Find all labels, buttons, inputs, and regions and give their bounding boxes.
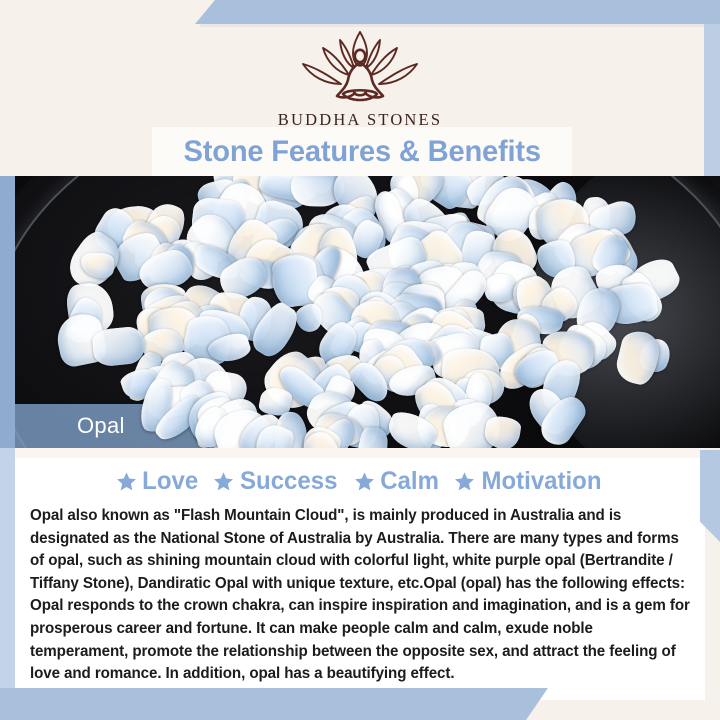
benefits-row: Love Success Calm Motivation [15, 467, 705, 496]
benefit-label: Success [240, 467, 337, 496]
benefit-item-motivation: Motivation [454, 467, 604, 496]
content-panel-topline [15, 448, 705, 458]
top-accent-band [195, 0, 720, 24]
benefit-label: Motivation [481, 467, 601, 496]
hero-left-strip [0, 176, 15, 466]
body-left-strip [0, 448, 15, 700]
stone-description: Opal also known as "Flash Mountain Cloud… [30, 505, 690, 686]
infographic-page: BUDDHA STONES Stone Features & Benefits … [0, 0, 720, 720]
benefit-label: Love [142, 467, 198, 496]
star-icon [454, 471, 475, 492]
opal-stone [483, 415, 522, 448]
stone-name-label: Opal [77, 413, 125, 439]
benefit-item-calm: Calm [354, 467, 440, 496]
benefit-item-love: Love [116, 467, 199, 496]
brand-logo: BUDDHA STONES [0, 26, 720, 130]
lotus-meditation-figure-icon [285, 26, 435, 108]
page-title: Stone Features & Benefits [183, 135, 540, 169]
star-icon [116, 471, 137, 492]
opal-stone [613, 328, 663, 388]
bottom-accent-band [0, 688, 548, 720]
star-icon [354, 471, 375, 492]
benefit-item-success: Success [213, 467, 339, 496]
star-icon [213, 471, 234, 492]
page-title-panel: Stone Features & Benefits [152, 127, 572, 176]
benefit-label: Calm [380, 467, 439, 496]
